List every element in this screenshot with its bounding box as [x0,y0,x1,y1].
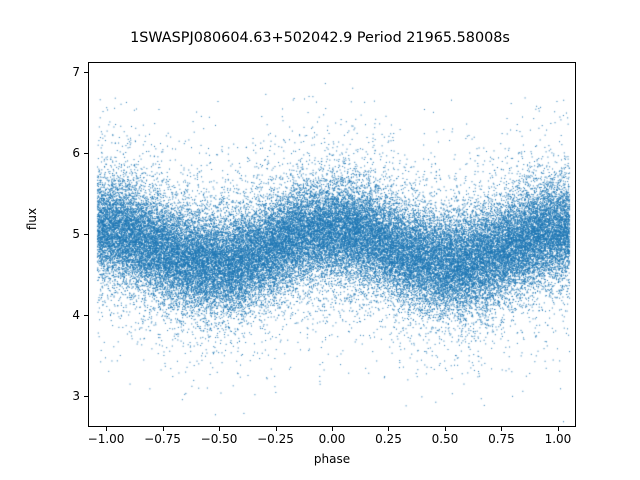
x-tick-mark [106,427,107,431]
x-tick-mark [388,427,389,431]
figure-canvas: 1SWASPJ080604.63+502042.9 Period 21965.5… [0,0,640,480]
page-title: 1SWASPJ080604.63+502042.9 Period 21965.5… [0,30,640,46]
x-tick-label: 1.00 [523,432,593,447]
x-tick-mark [501,427,502,431]
y-tick-label: 6 [52,146,80,160]
plot-axes-area [88,62,576,427]
scatter-plot-canvas [89,63,576,427]
x-tick-mark [558,427,559,431]
x-tick-mark [163,427,164,431]
y-tick-label-text: 3 [52,389,80,403]
y-tick-label: 5 [52,227,80,241]
x-axis-label: phase [88,452,576,466]
y-tick-mark [84,153,88,154]
y-tick-label: 3 [52,389,80,403]
x-tick-mark [332,427,333,431]
x-tick-mark [276,427,277,431]
y-tick-label-text: 7 [52,65,80,79]
x-tick-mark [445,427,446,431]
y-tick-mark [84,72,88,73]
y-tick-mark [84,315,88,316]
y-tick-mark [84,396,88,397]
y-tick-mark [84,234,88,235]
x-tick-label-text: 1.00 [523,432,593,446]
y-tick-label-text: 4 [52,308,80,322]
x-tick-mark [219,427,220,431]
y-tick-label-text: 6 [52,146,80,160]
y-tick-label: 4 [52,308,80,322]
y-tick-label: 7 [52,65,80,79]
y-tick-label-text: 5 [52,227,80,241]
y-axis-label: flux [25,179,39,259]
